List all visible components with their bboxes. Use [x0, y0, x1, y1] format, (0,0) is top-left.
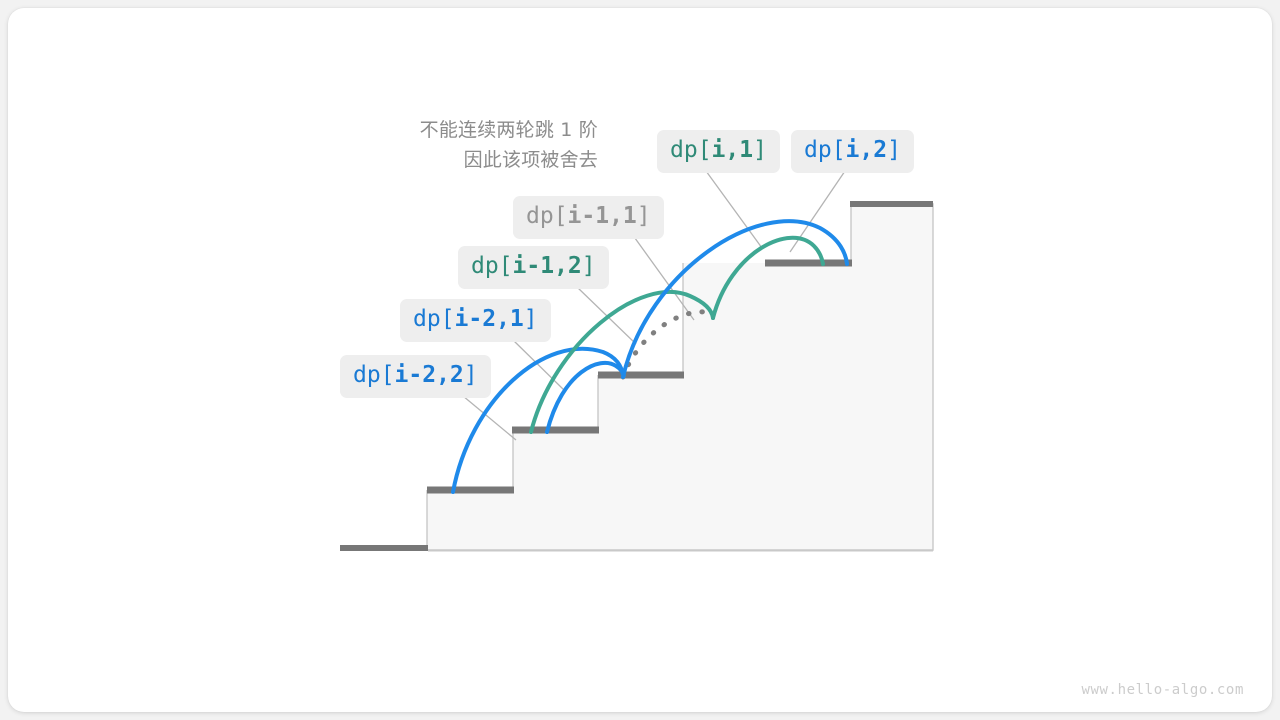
diagram-stage: 不能连续两轮跳 1 阶 因此该项被舍去 dp[i-2,2] dp[i-2,1] … — [8, 8, 1272, 712]
label-dp-i-1-2-text: dp[i-1,2] — [471, 253, 596, 279]
leader-dp-i-2-1 — [513, 340, 566, 392]
staircase-diagram-svg — [8, 8, 1272, 712]
label-dp-i-2: dp[i,2] — [791, 130, 914, 173]
site-watermark: www.hello-algo.com — [1081, 682, 1244, 698]
label-dp-i-2-2-text: dp[i-2,2] — [353, 362, 478, 388]
annotation-line-1: 不能连续两轮跳 1 阶 — [330, 115, 598, 145]
diagram-card: 不能连续两轮跳 1 阶 因此该项被舍去 dp[i-2,2] dp[i-2,1] … — [8, 8, 1272, 712]
label-dp-i-1-1-text: dp[i-1,1] — [526, 203, 651, 229]
label-dp-i-2-1-text: dp[i-2,1] — [413, 306, 538, 332]
diagram-page: 不能连续两轮跳 1 阶 因此该项被舍去 dp[i-2,2] dp[i-2,1] … — [0, 0, 1280, 720]
annotation-line-2: 因此该项被舍去 — [330, 145, 598, 175]
label-dp-i-2-text: dp[i,2] — [804, 137, 901, 163]
annotation-note: 不能连续两轮跳 1 阶 因此该项被舍去 — [330, 115, 598, 175]
label-dp-i-1-1: dp[i-1,1] — [513, 196, 664, 239]
label-dp-i-1-2: dp[i-1,2] — [458, 246, 609, 289]
label-dp-i-1-text: dp[i,1] — [670, 137, 767, 163]
label-dp-i-2-1: dp[i-2,1] — [400, 299, 551, 342]
label-dp-i-2-2: dp[i-2,2] — [340, 355, 491, 398]
label-dp-i-1: dp[i,1] — [657, 130, 780, 173]
